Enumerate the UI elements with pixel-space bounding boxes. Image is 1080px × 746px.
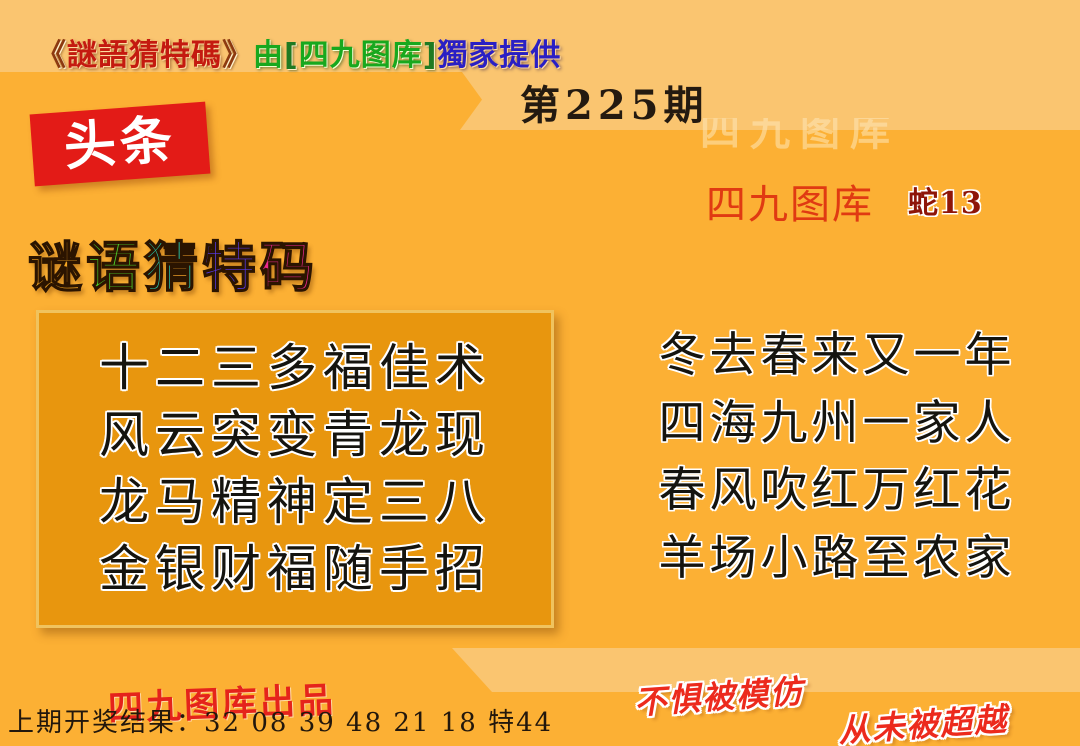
header-title-part: 獨家提供 xyxy=(437,30,561,74)
header-title-part: 《 xyxy=(36,30,67,74)
watermark-text: 四九图库 xyxy=(700,118,1080,152)
poem-block: 冬去春来又一年 四海九州一家人 春风吹红万红花 羊场小路至农家 xyxy=(606,322,1068,593)
rainbow-heading-char: 码 xyxy=(260,238,318,297)
header-title-part: 謎語猜特碼 xyxy=(67,30,222,74)
header-title-part: ] xyxy=(423,38,438,73)
issue-number: 第225期 xyxy=(520,73,709,131)
riddle-box: 十二三多福佳术 风云突变青龙现 龙马精神定三八 金银财福随手招 xyxy=(36,310,554,628)
riddle-line: 金银财福随手招 xyxy=(55,536,535,603)
zodiac-code: 蛇13 xyxy=(908,178,983,222)
header-title-part: [ xyxy=(284,38,299,73)
headline-badge-label: 头条 xyxy=(62,114,178,174)
poem-line: 羊场小路至农家 xyxy=(606,525,1068,593)
riddle-line: 龙马精神定三八 xyxy=(55,469,535,536)
header-title: 《謎語猜特碼》 由 [四九图库] 獨家提供 xyxy=(36,30,561,74)
header-title-part: 由 xyxy=(253,30,284,74)
riddle-line: 风云突变青龙现 xyxy=(55,402,535,469)
rainbow-heading-char: 谜 xyxy=(28,238,86,297)
headline-badge: 头条 xyxy=(30,102,211,187)
brand-name: 四九图库 xyxy=(706,172,874,230)
last-draw-result: 上期开奖结果：32 08 39 48 21 18 特44 xyxy=(8,702,553,739)
rainbow-heading: 谜语猜特码 xyxy=(28,238,318,297)
header-title-part: 四九图库 xyxy=(299,30,423,74)
rainbow-heading-char: 特 xyxy=(202,238,260,297)
poem-line: 冬去春来又一年 xyxy=(606,322,1068,390)
poem-line: 春风吹红万红花 xyxy=(606,457,1068,525)
riddle-line: 十二三多福佳术 xyxy=(55,335,535,402)
header-title-part: 》 xyxy=(222,30,253,74)
poster-canvas: 四九图库 《謎語猜特碼》 由 [四九图库] 獨家提供 第225期 头条 谜语猜特… xyxy=(0,0,1080,746)
rainbow-heading-char: 语 xyxy=(86,238,144,297)
rainbow-heading-char: 猜 xyxy=(144,238,202,297)
poem-line: 四海九州一家人 xyxy=(606,390,1068,458)
